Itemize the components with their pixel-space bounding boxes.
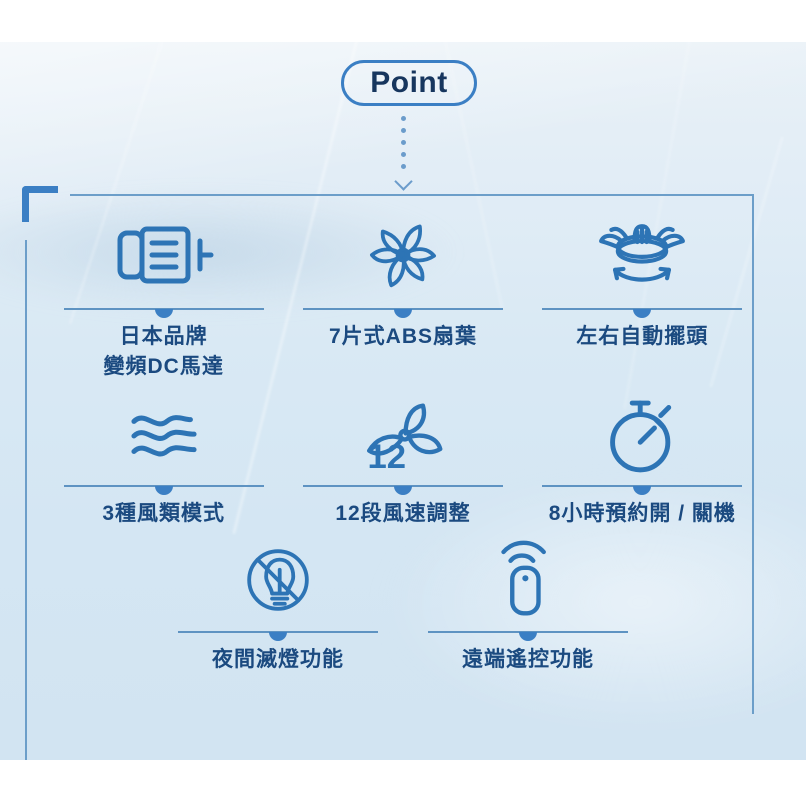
point-badge-label: Point [370, 68, 448, 98]
remote-control-icon [403, 537, 653, 623]
feature-item-night-light-off: 夜間滅燈功能 [153, 537, 403, 675]
feature-label: 遠端遙控功能 [462, 645, 594, 675]
dotted-down-arrow-icon [396, 116, 410, 188]
feature-divider [542, 308, 742, 310]
feature-item-seven-blade-fan: 7片式ABS扇葉 [283, 212, 522, 383]
feature-row-3: 夜間滅燈功能 遠端遙控功能 [0, 537, 806, 675]
feature-item-auto-oscillation: 左右自動擺頭 [523, 212, 762, 383]
feature-divider [64, 485, 264, 487]
feature-label: 3種風類模式 [102, 499, 225, 529]
feature-label: 左右自動擺頭 [576, 322, 708, 352]
auto-oscillation-icon [523, 212, 762, 298]
feature-item-dc-motor: 日本品牌 變頻DC馬達 [44, 212, 283, 383]
feature-divider [303, 308, 503, 310]
feature-row-1: 日本品牌 變頻DC馬達 [0, 212, 806, 383]
chevron-down-icon [394, 172, 412, 190]
feature-label: 7片式ABS扇葉 [329, 322, 477, 352]
seven-blade-fan-icon [283, 212, 522, 298]
feature-grid: 日本品牌 變頻DC馬達 [0, 212, 806, 676]
feature-item-timer: 8小時預約開 / 關機 [523, 393, 762, 529]
feature-label: 夜間滅燈功能 [212, 645, 344, 675]
feature-divider [178, 631, 378, 633]
no-light-bulb-icon [153, 537, 403, 623]
feature-divider [64, 308, 264, 310]
frame-line-top [70, 194, 754, 196]
feature-item-wind-modes: 3種風類模式 [44, 393, 283, 529]
feature-item-twelve-speeds: 12 12段風速調整 [283, 393, 522, 529]
feature-label: 日本品牌 變頻DC馬達 [103, 322, 223, 383]
stopwatch-timer-icon [523, 393, 762, 479]
feature-divider [542, 485, 742, 487]
point-badge: Point [341, 60, 477, 106]
feature-divider [428, 631, 628, 633]
product-feature-poster: Point [0, 0, 806, 806]
dc-motor-icon [44, 212, 283, 298]
feature-label: 8小時預約開 / 關機 [549, 499, 736, 529]
feature-divider [303, 485, 503, 487]
propeller-number-label: 12 [367, 438, 406, 475]
wind-waves-icon [44, 393, 283, 479]
feature-row-2: 3種風類模式 12 12段風速調整 [0, 393, 806, 529]
twelve-speed-propeller-icon: 12 [283, 393, 522, 479]
feature-item-remote-control: 遠端遙控功能 [403, 537, 653, 675]
feature-label: 12段風速調整 [335, 499, 470, 529]
